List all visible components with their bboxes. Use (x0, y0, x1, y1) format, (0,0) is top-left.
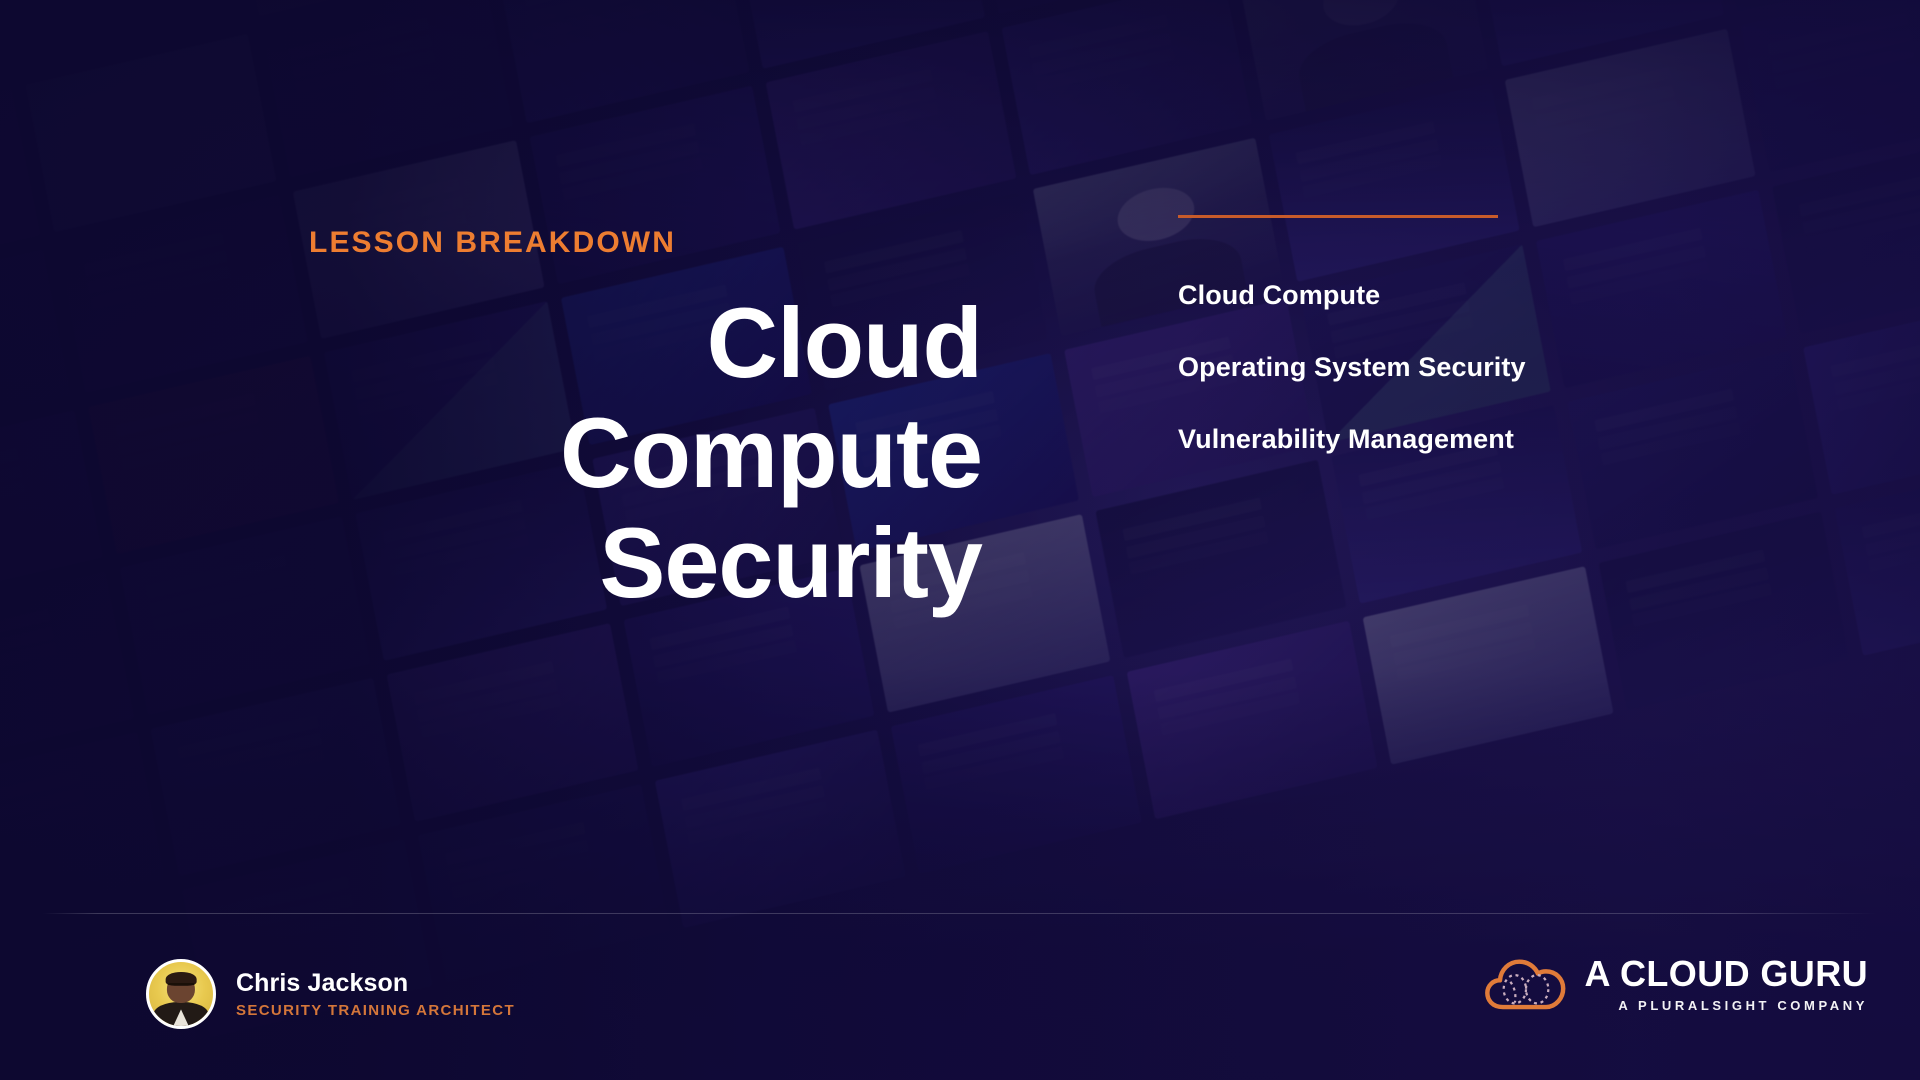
title-line-3: Security (222, 508, 982, 618)
topic-item: Vulnerability Management (1178, 424, 1798, 455)
topics-panel: Cloud Compute Operating System Security … (1178, 215, 1798, 455)
presenter-text: Chris Jackson SECURITY TRAINING ARCHITEC… (236, 969, 515, 1019)
presenter-block: Chris Jackson SECURITY TRAINING ARCHITEC… (146, 959, 515, 1029)
eyebrow-label: LESSON BREAKDOWN (0, 226, 985, 260)
presentation-slide: LESSON BREAKDOWN Cloud Compute Security … (0, 0, 1920, 1080)
footer-divider (43, 913, 1877, 914)
presenter-name: Chris Jackson (236, 969, 515, 997)
accent-divider (1178, 215, 1498, 218)
topic-item: Cloud Compute (1178, 280, 1798, 311)
avatar (146, 959, 216, 1029)
brand-text: A CLOUD GURU A PLURALSIGHT COMPANY (1585, 956, 1868, 1012)
topic-item: Operating System Security (1178, 352, 1798, 383)
brand-tagline: A PLURALSIGHT COMPANY (1585, 999, 1868, 1012)
page-title: Cloud Compute Security (222, 288, 982, 618)
title-line-1: Cloud (222, 288, 982, 398)
presenter-role: SECURITY TRAINING ARCHITECT (236, 1002, 515, 1019)
cloud-icon (1485, 955, 1567, 1013)
brand-logo: A CLOUD GURU A PLURALSIGHT COMPANY (1485, 955, 1868, 1013)
glasses-icon (168, 983, 194, 989)
title-line-2: Compute (222, 398, 982, 508)
brand-name: A CLOUD GURU (1585, 956, 1868, 992)
